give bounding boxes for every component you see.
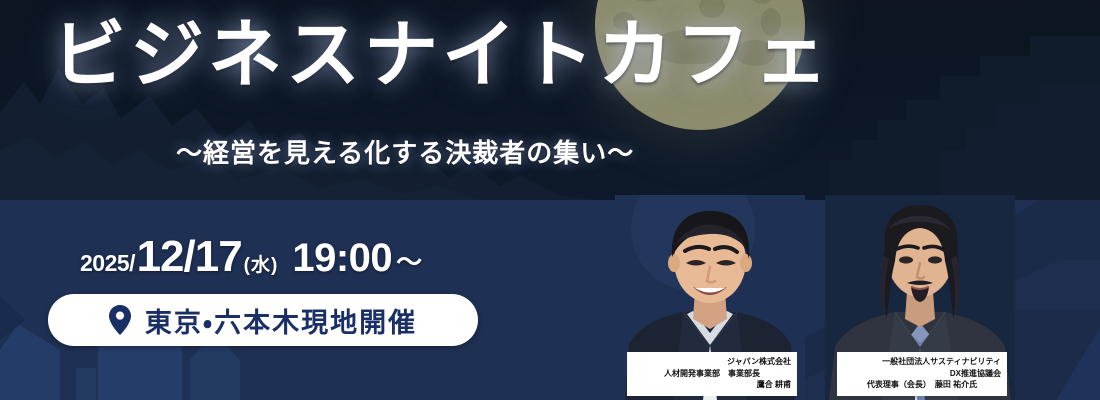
event-day-of-week: (水) bbox=[244, 250, 279, 277]
event-time-suffix: 〜 bbox=[396, 242, 422, 279]
event-time: 19:00 bbox=[292, 236, 392, 281]
location-pin-icon bbox=[109, 305, 131, 335]
speaker-2-role: 代表理事（会長） 藤田 祐介氏 bbox=[843, 379, 1001, 391]
speaker-2-org: 一般社団法人サスティナビリティ bbox=[843, 356, 1001, 368]
event-banner: ビジネスナイトカフェ 〜経営を見える化する決裁者の集い〜 2025 / 12/1… bbox=[0, 0, 1100, 400]
speaker-1-org: ジャパン株式会社 bbox=[633, 356, 791, 368]
speaker-1-caption: ジャパン株式会社 人材開発事業部 事業部長 鷹合 耕甫 bbox=[627, 352, 797, 396]
speaker-2-caption: 一般社団法人サスティナビリティ DX推進協議会 代表理事（会長） 藤田 祐介氏 bbox=[837, 352, 1007, 396]
location-label: 東京・六本木現地開催 bbox=[145, 301, 417, 340]
banner-title: ビジネスナイトカフェ bbox=[0, 16, 1100, 94]
title-block: ビジネスナイトカフェ bbox=[0, 16, 1100, 94]
speaker-card-1: ジャパン株式会社 人材開発事業部 事業部長 鷹合 耕甫 bbox=[615, 195, 805, 400]
event-year: 2025 bbox=[80, 250, 129, 277]
speaker-1-name: 鷹合 耕甫 bbox=[633, 379, 791, 391]
speaker-2-org-line2: DX推進協議会 bbox=[843, 368, 1001, 380]
speaker-card-2: 一般社団法人サスティナビリティ DX推進協議会 代表理事（会長） 藤田 祐介氏 bbox=[825, 195, 1015, 400]
location-pill[interactable]: 東京・六本木現地開催 bbox=[48, 294, 478, 346]
event-month-day: 12/17 bbox=[137, 232, 242, 282]
date-separator: / bbox=[129, 250, 135, 277]
event-datetime: 2025 / 12/17 (水) 19:00 〜 bbox=[80, 232, 422, 282]
speaker-1-role: 人材開発事業部 事業部長 bbox=[633, 368, 791, 380]
banner-subtitle: 〜経営を見える化する決裁者の集い〜 bbox=[0, 133, 1100, 170]
